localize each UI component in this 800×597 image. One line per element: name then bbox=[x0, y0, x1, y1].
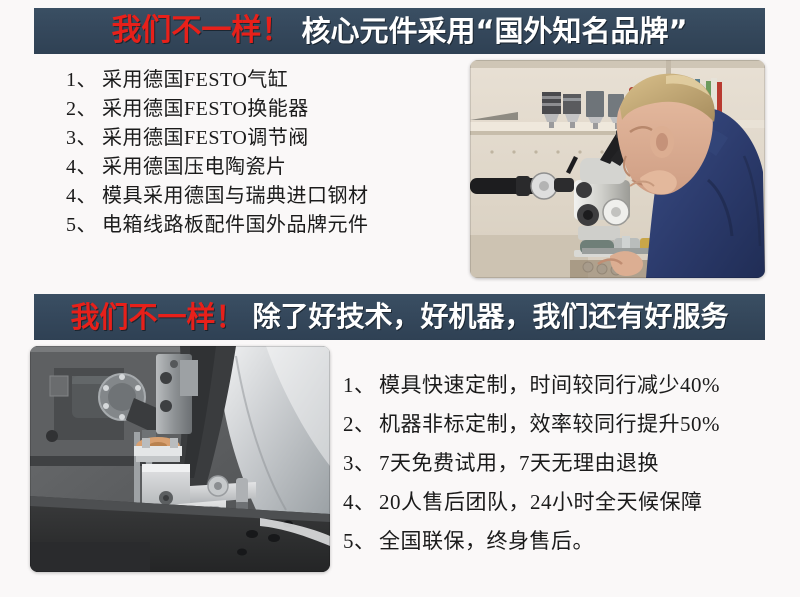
banner-service-promise: 我们不一样！ 除了好技术，好机器，我们还有好服务 bbox=[34, 294, 765, 340]
list-item: 4、20人售后团队，24小时全天候保障 bbox=[343, 483, 773, 522]
promo-page: 我们不一样！ 核心元件采用“国外知名品牌” 1、采用德国FESTO气缸 2、采用… bbox=[0, 0, 800, 597]
list-item-label: 全国联保，终身售后。 bbox=[379, 529, 594, 553]
list-item-index: 2、 bbox=[66, 95, 102, 124]
list-item-label: 机器非标定制，效率较同行提升50% bbox=[379, 412, 720, 436]
list-item-label: 模具采用德国与瑞典进口钢材 bbox=[102, 185, 369, 207]
list-item-index: 1、 bbox=[66, 66, 102, 95]
list-item-index: 3、 bbox=[66, 124, 102, 153]
list-item-label: 7天免费试用，7天无理由退换 bbox=[379, 451, 659, 475]
list-item: 3、7天免费试用，7天无理由退换 bbox=[343, 444, 773, 483]
list-item-index: 4、 bbox=[66, 153, 102, 182]
list-item-label: 电箱线路板配件国外品牌元件 bbox=[102, 214, 369, 236]
list-item-label: 20人售后团队，24小时全天候保障 bbox=[379, 490, 703, 514]
list-item-index: 1、 bbox=[343, 366, 379, 405]
list-item: 5、全国联保，终身售后。 bbox=[343, 522, 773, 561]
list-item: 1、模具快速定制，时间较同行减少40% bbox=[343, 366, 773, 405]
list-item-label: 采用德国FESTO调节阀 bbox=[102, 127, 309, 149]
list-item-index: 4、 bbox=[66, 182, 102, 211]
list-item-label: 采用德国压电陶瓷片 bbox=[102, 156, 287, 178]
list-item: 3、采用德国FESTO调节阀 bbox=[66, 124, 466, 153]
list-item: 4、模具采用德国与瑞典进口钢材 bbox=[66, 182, 466, 211]
list-item: 1、采用德国FESTO气缸 bbox=[66, 66, 466, 95]
banner-highlight-text: 我们不一样！ bbox=[70, 303, 244, 332]
machine-closeup-photo bbox=[30, 346, 330, 572]
list-item-index: 3、 bbox=[343, 444, 379, 483]
list-item: 2、机器非标定制，效率较同行提升50% bbox=[343, 405, 773, 444]
list-item-index: 2、 bbox=[343, 405, 379, 444]
list-item: 5、电箱线路板配件国外品牌元件 bbox=[66, 211, 466, 240]
list-item-label: 模具快速定制，时间较同行减少40% bbox=[379, 373, 720, 397]
banner-highlight-text: 我们不一样！ bbox=[111, 16, 291, 46]
list-item-label: 采用德国FESTO换能器 bbox=[102, 98, 309, 120]
banner-core-components: 我们不一样！ 核心元件采用“国外知名品牌” bbox=[34, 8, 765, 54]
list-item-index: 5、 bbox=[343, 522, 379, 561]
list-item-label: 采用德国FESTO气缸 bbox=[102, 69, 288, 91]
list-item: 4、采用德国压电陶瓷片 bbox=[66, 153, 466, 182]
list-item: 2、采用德国FESTO换能器 bbox=[66, 95, 466, 124]
list-item-index: 4、 bbox=[343, 483, 379, 522]
technician-microscope-photo bbox=[470, 60, 765, 278]
banner-main-text: 核心元件采用“国外知名品牌” bbox=[301, 17, 687, 46]
banner-main-text: 除了好技术，好机器，我们还有好服务 bbox=[253, 303, 729, 331]
quality-feature-list: 1、采用德国FESTO气缸 2、采用德国FESTO换能器 3、采用德国FESTO… bbox=[66, 66, 466, 240]
service-feature-list: 1、模具快速定制，时间较同行减少40% 2、机器非标定制，效率较同行提升50% … bbox=[343, 366, 773, 561]
list-item-index: 5、 bbox=[66, 211, 102, 240]
